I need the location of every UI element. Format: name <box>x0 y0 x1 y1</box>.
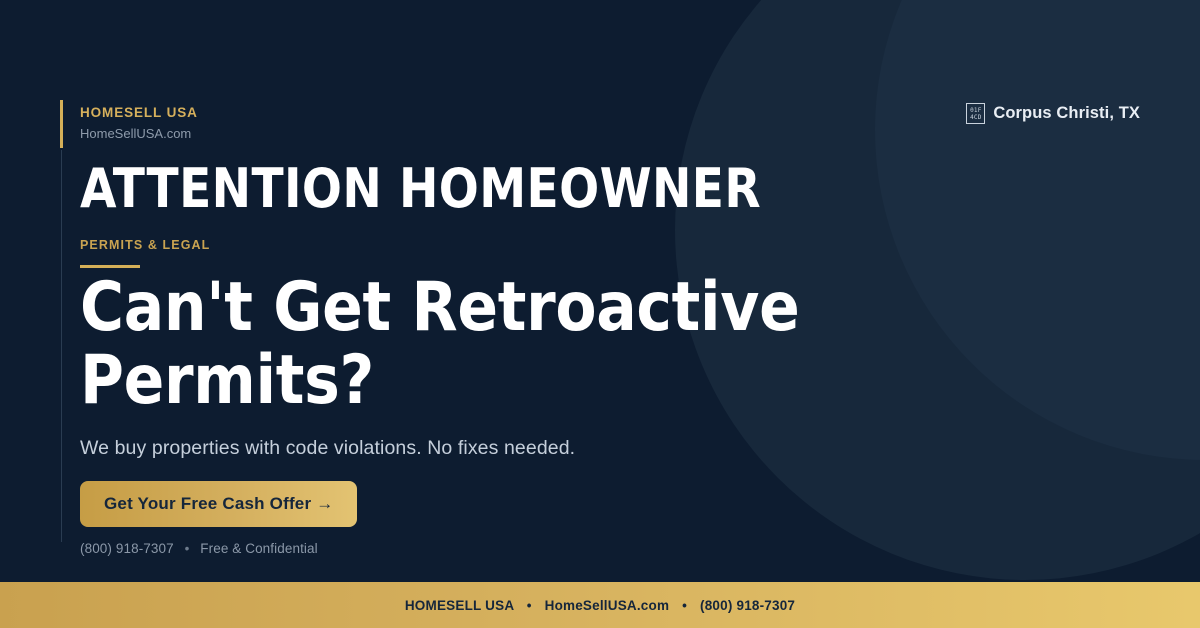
footer-text: HOMESELL USA • HomeSellUSA.com • (800) 9… <box>405 598 795 613</box>
tofu-codepoint-bottom: 4CD <box>970 114 981 121</box>
accent-rule-gold <box>60 100 63 148</box>
footer-separator-1: • <box>518 598 541 613</box>
contact-line: (800) 918-7307 • Free & Confidential <box>80 541 318 556</box>
cta-button[interactable]: Get Your Free Cash Offer → <box>80 481 357 527</box>
eyebrow-block: PERMITS & LEGAL <box>80 238 210 268</box>
contact-phone: (800) 918-7307 <box>80 541 174 556</box>
location-label: Corpus Christi, TX <box>993 104 1140 123</box>
page-title: Can't Get Retroactive Permits? <box>80 272 884 418</box>
footer-phone[interactable]: (800) 918-7307 <box>700 598 795 613</box>
brand-block: HOMESELL USA HomeSellUSA.com <box>80 104 198 144</box>
map-pin-icon: 01F 4CD <box>966 103 985 124</box>
footer-separator-2: • <box>673 598 696 613</box>
brand-url: HomeSellUSA.com <box>80 124 198 144</box>
attention-headline: ATTENTION HOMEOWNER <box>80 161 761 218</box>
tofu-codepoint-top: 01F <box>970 107 981 114</box>
contact-assurance: Free & Confidential <box>200 541 317 556</box>
footer-url[interactable]: HomeSellUSA.com <box>545 598 670 613</box>
footer-bar: HOMESELL USA • HomeSellUSA.com • (800) 9… <box>0 582 1200 628</box>
subheadline: We buy properties with code violations. … <box>80 437 575 460</box>
accent-rule-faint <box>61 150 62 542</box>
marketing-banner: HOMESELL USA HomeSellUSA.com 01F 4CD Cor… <box>0 0 1200 628</box>
contact-separator: • <box>178 541 197 556</box>
footer-brand: HOMESELL USA <box>405 598 514 613</box>
brand-name: HOMESELL USA <box>80 104 198 122</box>
eyebrow-label: PERMITS & LEGAL <box>80 238 210 252</box>
location-badge: 01F 4CD Corpus Christi, TX <box>966 103 1140 124</box>
